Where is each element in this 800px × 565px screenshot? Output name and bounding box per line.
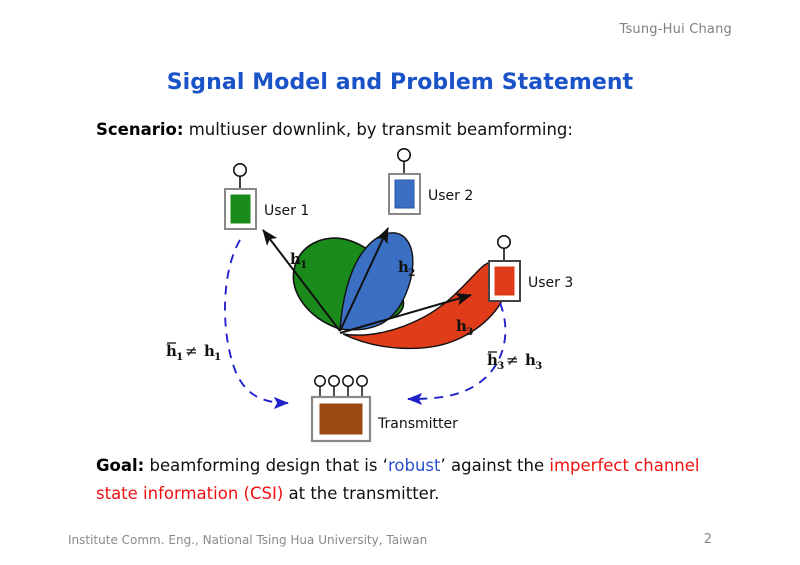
mismatch1-sub: 1 — [176, 351, 183, 363]
antenna-icon — [234, 164, 246, 176]
mismatch1-sub2: 1 — [214, 351, 221, 363]
goal-text-part2: ’ against the — [441, 456, 550, 475]
user-2-label: User 2 — [428, 188, 473, 204]
antenna-icon — [398, 149, 410, 161]
antenna-icon — [498, 236, 510, 248]
page-title: Signal Model and Problem Statement — [0, 70, 800, 95]
mismatch3-sub2: 3 — [535, 360, 542, 372]
h3-sub: 3 — [466, 326, 473, 338]
mismatch-label-3: h 3 ≠ h 3 — [487, 351, 542, 372]
footer-institute: Institute Comm. Eng., National Tsing Hua… — [68, 533, 427, 547]
user-3-device: User 3 — [489, 236, 573, 301]
mismatch3-relation: ≠ — [506, 351, 519, 369]
antenna-icon — [329, 376, 339, 386]
antenna-icon — [343, 376, 353, 386]
h2-sub: 2 — [408, 267, 415, 279]
goal-text-part1: beamforming design that is ‘ — [150, 456, 388, 475]
goal-highlight-robust: robust — [388, 456, 441, 475]
goal-text-part3: at the transmitter. — [283, 484, 439, 503]
author-header: Tsung-Hui Chang — [619, 22, 732, 37]
scenario-line: Scenario: multiuser downlink, by transmi… — [96, 117, 573, 143]
transmitter-screen — [320, 404, 362, 434]
beamforming-diagram: User 1 User 2 User 3 — [140, 145, 660, 445]
transmitter-label: Transmitter — [377, 416, 458, 432]
h1-sub: 1 — [300, 259, 307, 271]
device-screen — [231, 195, 250, 223]
device-screen — [395, 180, 414, 208]
mismatch1-relation: ≠ — [185, 342, 198, 360]
device-screen — [495, 267, 514, 295]
antenna-icon — [357, 376, 367, 386]
slide: Tsung-Hui Chang Signal Model and Problem… — [0, 0, 800, 565]
mismatch-arrow-left — [225, 240, 288, 403]
user-1-device: User 1 — [225, 164, 309, 229]
goal-block: Goal: beamforming design that is ‘robust… — [96, 452, 736, 508]
user-2-device: User 2 — [389, 149, 473, 214]
goal-lead: Goal: — [96, 456, 144, 475]
scenario-text: multiuser downlink, by transmit beamform… — [189, 120, 573, 139]
scenario-lead: Scenario: — [96, 120, 183, 139]
transmitter-device: Transmitter — [312, 376, 458, 441]
antenna-icon — [315, 376, 325, 386]
user-3-label: User 3 — [528, 275, 573, 291]
mismatch-label-1: h 1 ≠ h 1 — [166, 342, 221, 363]
mismatch3-sub: 3 — [497, 360, 504, 372]
user-1-label: User 1 — [264, 203, 309, 219]
page-number: 2 — [704, 532, 712, 547]
